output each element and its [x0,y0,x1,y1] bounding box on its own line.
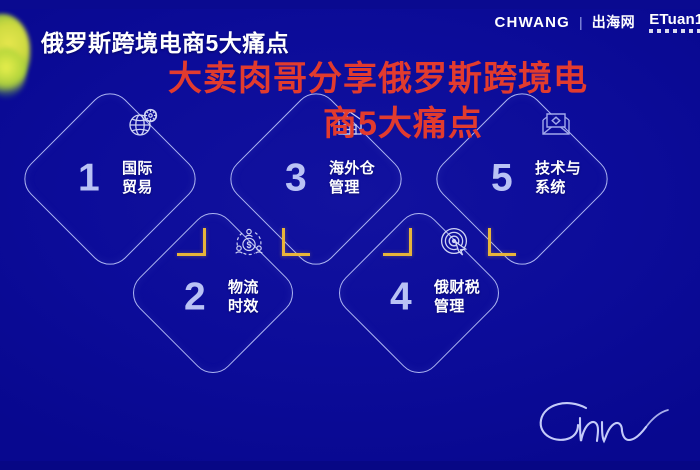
globe-gear-icon [126,106,160,140]
top-letterbox-band [0,0,700,9]
svg-text:$: $ [246,240,251,250]
pain-point-card-4[interactable]: 4 俄财税 管理 [382,237,582,357]
pain-point-number-4: 4 [390,278,412,317]
logo-etuan: ETuan12 [649,11,700,33]
slide-canvas: 俄罗斯跨境电商5大痛点 CHWANG | 出海网 ETuan12 [0,0,700,470]
envelope-gem-icon [539,106,573,140]
pain-point-card-5[interactable]: 5 技术与 系统 [483,118,683,238]
pain-point-label-1: 国际 贸易 [122,159,153,197]
pain-point-number-3: 3 [285,159,307,198]
pain-point-label-4: 俄财税 管理 [434,278,480,316]
pain-point-number-1: 1 [78,159,100,198]
bottom-letterbox-band [0,461,700,470]
logo-chwang: CHWANG [495,14,571,31]
pain-point-number-2: 2 [184,278,206,317]
pain-point-card-3[interactable]: 3 海外仓 管理 [277,118,477,238]
pain-point-card-2[interactable]: $ 2 物流 时效 [176,237,376,357]
pain-point-label-5: 技术与 系统 [535,159,581,197]
logo-divider: | [579,14,583,30]
handwritten-signature [528,394,678,452]
logo-etuan-dots [649,29,700,33]
warehouse-icon [333,106,367,140]
logo-chwang-cn: 出海网 [592,12,636,32]
pain-point-label-3: 海外仓 管理 [329,159,375,197]
pain-point-card-1[interactable]: 1 国际 贸易 [70,118,270,238]
pain-point-number-5: 5 [491,159,513,198]
logo-etuan-text: ETuan12 [649,11,700,28]
pain-point-label-2: 物流 时效 [228,278,259,316]
target-cursor-icon [438,225,472,259]
page-title: 俄罗斯跨境电商5大痛点 [41,24,289,58]
brand-bar: CHWANG | 出海网 ETuan12 [495,11,700,33]
people-money-circle-icon: $ [232,225,266,259]
